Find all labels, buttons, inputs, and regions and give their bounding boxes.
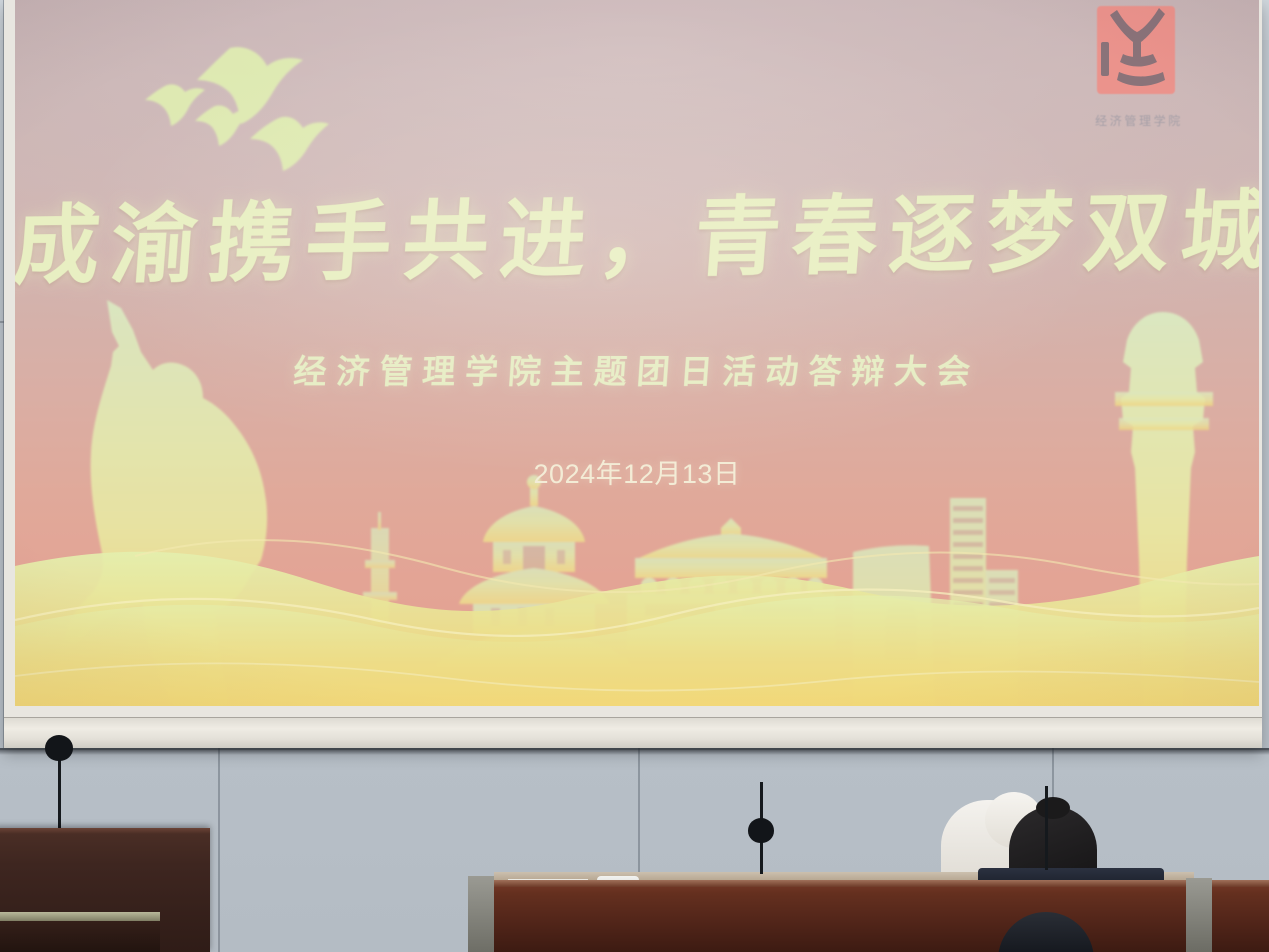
table-microphone-head	[748, 818, 774, 843]
head-table-left-cap	[468, 876, 494, 952]
attendee-dark-hair-bun	[1036, 797, 1070, 819]
lectern-top-edge	[0, 828, 210, 834]
wall-panel-shadow	[0, 750, 1269, 755]
organization-logo: 经济管理学院	[1079, 2, 1199, 137]
logo-mark-icon	[1093, 2, 1185, 98]
head-table	[468, 880, 1269, 952]
lectern-microphone-head	[45, 735, 73, 761]
projection-screen-surface: 成渝携手共进，青春逐梦双城 经济管理学院主题团日活动答辩大会 2024年12月1…	[15, 0, 1259, 706]
lectern-base-lip	[0, 912, 160, 921]
head-table-edge	[468, 880, 1269, 887]
slide-main-title: 成渝携手共进，青春逐梦双城	[15, 160, 1259, 300]
table-microphone-stem-2	[1045, 786, 1048, 870]
slide-subtitle: 经济管理学院主题团日活动答辩大会	[15, 345, 1259, 393]
screenshot-root: 成渝携手共进，青春逐梦双城 经济管理学院主题团日活动答辩大会 2024年12月1…	[0, 0, 1269, 952]
dove-flock-icon	[145, 47, 329, 171]
wall-seam-vertical-1	[218, 748, 220, 952]
logo-caption: 经济管理学院	[1079, 112, 1199, 129]
projection-screen-frame: 成渝携手共进，青春逐梦双城 经济管理学院主题团日活动答辩大会 2024年12月1…	[4, 0, 1262, 748]
slide-date: 2024年12月13日	[15, 452, 1259, 491]
head-table-right-cap	[1186, 878, 1212, 952]
